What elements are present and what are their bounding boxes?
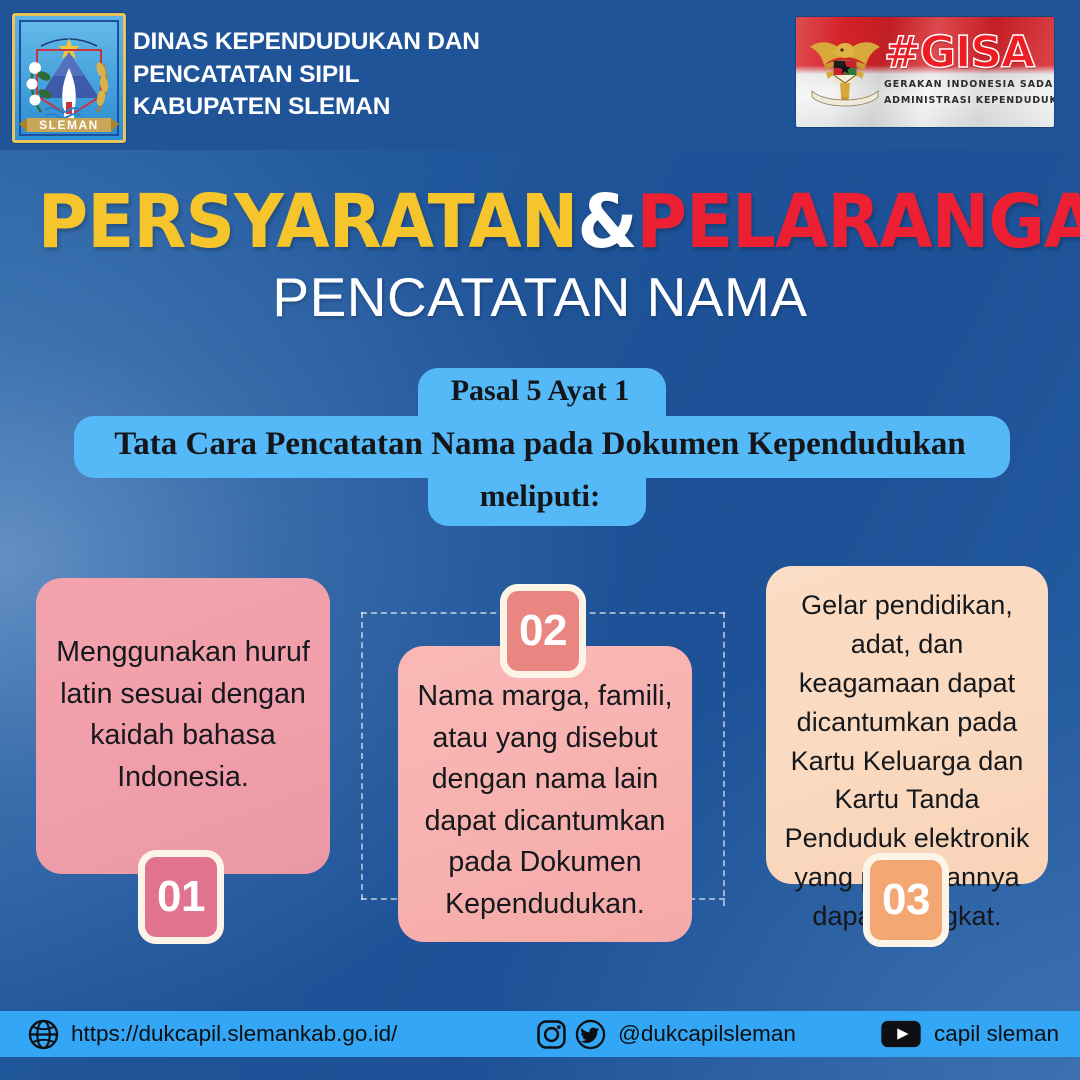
- footer-bar: https://dukcapil.slemankab.go.id/ @dukca…: [0, 1011, 1080, 1057]
- requirement-card-2-text: Nama marga, famili, atau yang disebut de…: [398, 676, 692, 926]
- footer-social-handle: @dukcapilsleman: [618, 1021, 796, 1047]
- page-title: PERSYARATAN&PELARANGAN: [38, 185, 1042, 259]
- title-part-pelarangan: PELARANGAN: [637, 179, 1080, 265]
- header-bar: SLEMAN DINAS KEPENDUDUKAN DAN PENCATATAN…: [0, 0, 1080, 150]
- connector-dashed-right: [723, 612, 725, 906]
- crest-label: SLEMAN: [15, 118, 123, 132]
- org-title-line-2: PENCATATAN SIPIL: [133, 59, 653, 92]
- org-title-line-3: KABUPATEN SLEMAN: [133, 91, 653, 124]
- gisa-wordmark: #GISA: [884, 27, 1034, 78]
- badge-line-1: Pasal 5 Ayat 1: [0, 374, 1080, 408]
- footer-youtube[interactable]: capil sleman: [880, 1011, 1059, 1057]
- pasal-badge: Pasal 5 Ayat 1 Tata Cara Pencatatan Nama…: [0, 368, 1080, 533]
- title-part-persyaratan: PERSYARATAN: [38, 179, 578, 265]
- org-title: DINAS KEPENDUDUKAN DAN PENCATATAN SIPIL …: [133, 26, 653, 124]
- footer-website[interactable]: https://dukcapil.slemankab.go.id/: [28, 1011, 397, 1057]
- footer-youtube-handle: capil sleman: [934, 1021, 1059, 1047]
- requirement-card-1: Menggunakan huruf latin sesuai dengan ka…: [36, 578, 330, 874]
- garuda-pancasila-icon: [806, 31, 884, 113]
- gisa-subtitle-line-2: ADMINISTRASI KEPENDUDUKAN: [884, 95, 1054, 106]
- requirement-card-3: Gelar pendidikan, adat, dan keagamaan da…: [766, 566, 1048, 884]
- org-title-line-1: DINAS KEPENDUDUKAN DAN: [133, 26, 653, 59]
- globe-icon: [28, 1019, 59, 1050]
- footer-website-label: https://dukcapil.slemankab.go.id/: [71, 1021, 397, 1047]
- infographic-poster: SLEMAN DINAS KEPENDUDUKAN DAN PENCATATAN…: [0, 0, 1080, 1080]
- badge-line-3: meliputi:: [0, 478, 1080, 514]
- instagram-icon: [536, 1019, 567, 1050]
- youtube-icon: [880, 1019, 922, 1049]
- connector-dashed-left: [361, 612, 363, 900]
- sleman-coat-of-arms-icon: SLEMAN: [12, 13, 126, 143]
- gisa-subtitle-line-1: GERAKAN INDONESIA SADAR: [884, 79, 1054, 90]
- requirement-card-2-number: 02: [500, 584, 586, 678]
- requirement-card-1-text: Menggunakan huruf latin sesuai dengan ka…: [36, 632, 330, 798]
- footer-social[interactable]: @dukcapilsleman: [536, 1011, 796, 1057]
- requirement-card-2: Nama marga, famili, atau yang disebut de…: [398, 646, 692, 942]
- twitter-icon: [575, 1019, 606, 1050]
- badge-line-2: Tata Cara Pencatatan Nama pada Dokumen K…: [0, 426, 1080, 463]
- title-ampersand: &: [577, 179, 636, 265]
- requirement-card-3-number: 03: [863, 853, 949, 947]
- gisa-logo: #GISA GERAKAN INDONESIA SADAR ADMINISTRA…: [796, 17, 1054, 127]
- page-subtitle: PENCATATAN NAMA: [0, 265, 1080, 329]
- requirement-card-1-number: 01: [138, 850, 224, 944]
